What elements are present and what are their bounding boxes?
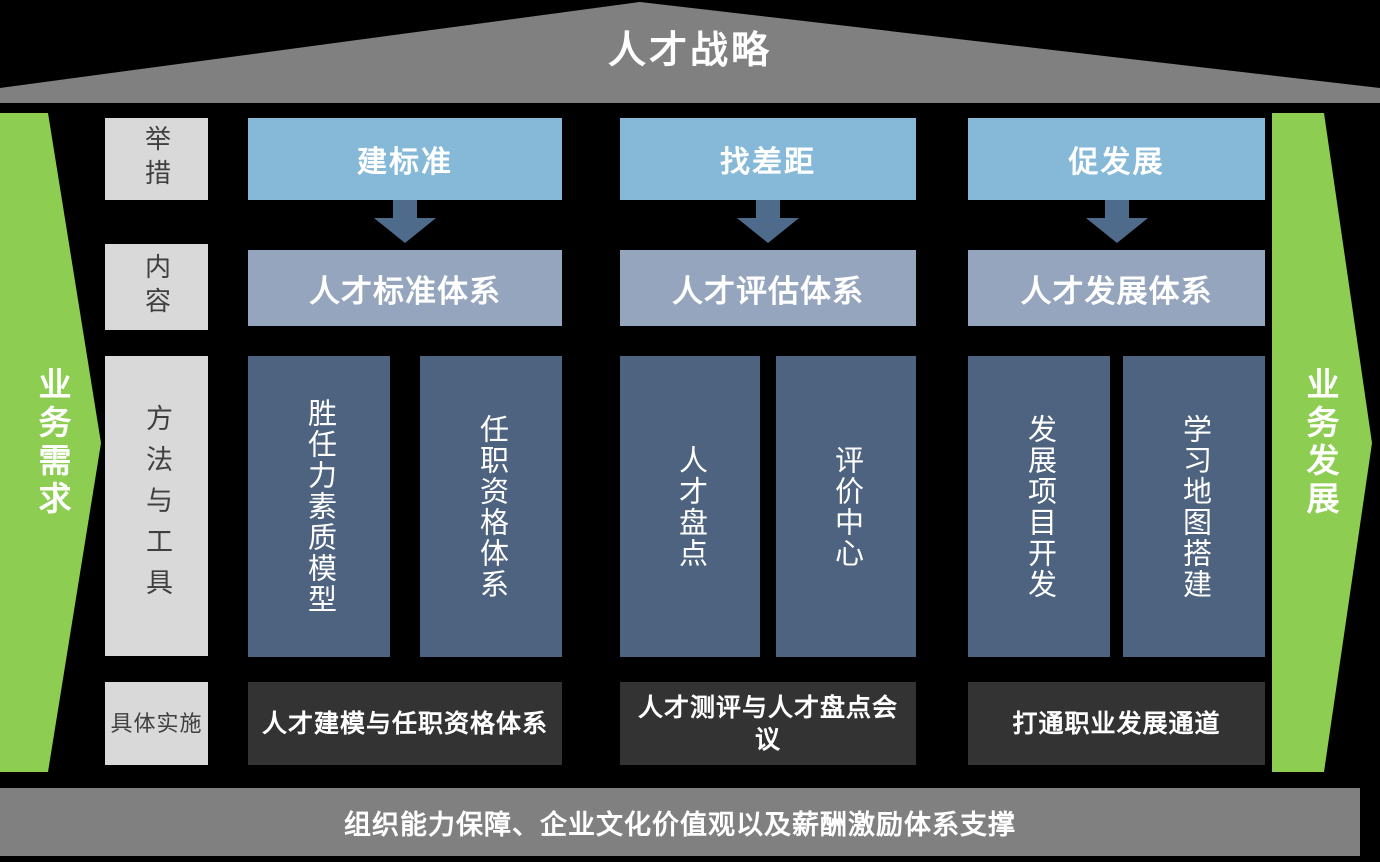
talent-strategy-diagram: 人才战略 业务需求 业务发展 举措 内容 方法与工具 具体实施 建标准 人才标准… (0, 0, 1380, 862)
down-arrow-icon-1 (372, 200, 438, 244)
foundation-banner: 组织能力保障、企业文化价值观以及薪酬激励体系支撑 (0, 788, 1360, 856)
page-title: 人才战略 (0, 30, 1380, 72)
left-business-need-label: 业务需求 (0, 113, 104, 772)
row-label-method: 方法与工具 (105, 356, 208, 656)
tool-box[interactable]: 学习地图搭建 (1123, 356, 1265, 657)
column-sub-3[interactable]: 人才发展体系 (968, 250, 1265, 326)
column-implementation-2[interactable]: 人才测评与人才盘点会议 (620, 682, 916, 765)
tool-box[interactable]: 任职资格体系 (420, 356, 562, 657)
tool-box[interactable]: 评价中心 (776, 356, 916, 657)
tool-box[interactable]: 胜任力素质模型 (248, 356, 390, 657)
column-tools-3: 发展项目开发 学习地图搭建 (968, 356, 1265, 657)
column-tools-1: 胜任力素质模型 任职资格体系 (248, 356, 562, 657)
row-label-implementation: 具体实施 (105, 682, 208, 765)
column-implementation-3[interactable]: 打通职业发展通道 (968, 682, 1265, 765)
row-label-content: 内容 (105, 244, 208, 330)
column-tools-2: 人才盘点 评价中心 (620, 356, 916, 657)
row-label-measure: 举措 (105, 118, 208, 200)
right-business-development-label: 业务发展 (1268, 113, 1372, 772)
tool-box[interactable]: 人才盘点 (620, 356, 760, 657)
column-sub-2[interactable]: 人才评估体系 (620, 250, 916, 326)
roof-shape: 人才战略 (0, 0, 1380, 104)
column-head-2[interactable]: 找差距 (620, 118, 916, 200)
column-head-1[interactable]: 建标准 (248, 118, 562, 200)
down-arrow-icon-3 (1084, 200, 1150, 244)
right-business-development-arrow: 业务发展 (1268, 113, 1372, 772)
down-arrow-icon-2 (735, 200, 801, 244)
column-implementation-1[interactable]: 人才建模与任职资格体系 (248, 682, 562, 765)
column-sub-1[interactable]: 人才标准体系 (248, 250, 562, 326)
column-head-3[interactable]: 促发展 (968, 118, 1265, 200)
tool-box[interactable]: 发展项目开发 (968, 356, 1110, 657)
left-business-need-arrow: 业务需求 (0, 113, 104, 772)
